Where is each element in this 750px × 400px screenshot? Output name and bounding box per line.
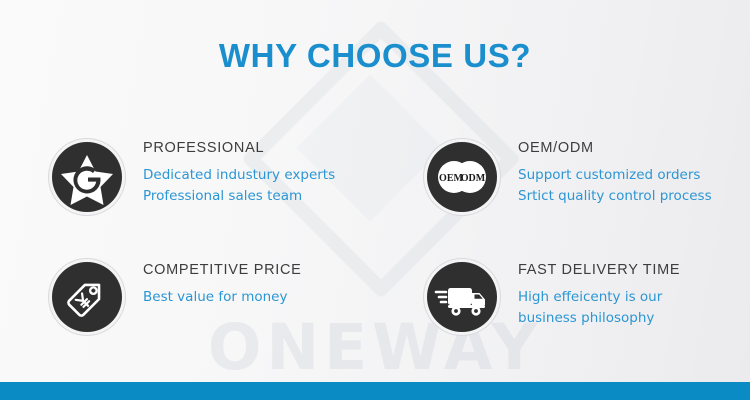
feature-line: Srtict quality control process [518,187,712,207]
feature-heading: COMPETITIVE PRICE [143,262,302,278]
feature-lines: Best value for money [143,288,302,308]
feature-line: High effeicenty is our [518,288,680,308]
star-badge-icon [52,142,122,212]
oem-odm-venn-icon: OEM ODM [427,142,497,212]
feature-text-oem-odm: OEM/ODM Support customized orders Srtict… [497,130,712,206]
feature-lines: Dedicated industury experts Professional… [143,166,335,206]
feature-item-fast-delivery: FAST DELIVERY TIME High effeicenty is ou… [375,250,750,332]
feature-text-competitive-price: COMPETITIVE PRICE Best value for money [122,250,302,308]
feature-line: business philosophy [518,309,680,329]
feature-text-professional: PROFESSIONAL Dedicated industury experts… [122,130,335,206]
feature-heading: OEM/ODM [518,140,712,156]
feature-line: Support customized orders [518,166,712,186]
feature-row-1: PROFESSIONAL Dedicated industury experts… [0,130,750,212]
feature-item-professional: PROFESSIONAL Dedicated industury experts… [0,130,375,212]
feature-line: Best value for money [143,288,302,308]
price-tag-icon [52,262,122,332]
bottom-accent-bar [0,382,750,400]
venn-label-odm: ODM [461,173,486,184]
feature-lines: Support customized orders Srtict quality… [518,166,712,206]
feature-item-competitive-price: COMPETITIVE PRICE Best value for money [0,250,375,332]
feature-lines: High effeicenty is our business philosop… [518,288,680,328]
feature-heading: PROFESSIONAL [143,140,335,156]
feature-grid: PROFESSIONAL Dedicated industury experts… [0,130,750,332]
promo-banner: ONEWAY WHY CHOOSE US? PROFESSIONAL Dedic… [0,0,750,400]
feature-text-fast-delivery: FAST DELIVERY TIME High effeicenty is ou… [497,250,680,328]
feature-line: Professional sales team [143,187,335,207]
page-title: WHY CHOOSE US? [0,38,750,74]
feature-heading: FAST DELIVERY TIME [518,262,680,278]
feature-row-2: COMPETITIVE PRICE Best value for money [0,250,750,332]
feature-line: Dedicated industury experts [143,166,335,186]
feature-item-oem-odm: OEM ODM OEM/ODM Support customized order… [375,130,750,212]
delivery-truck-icon [427,262,497,332]
